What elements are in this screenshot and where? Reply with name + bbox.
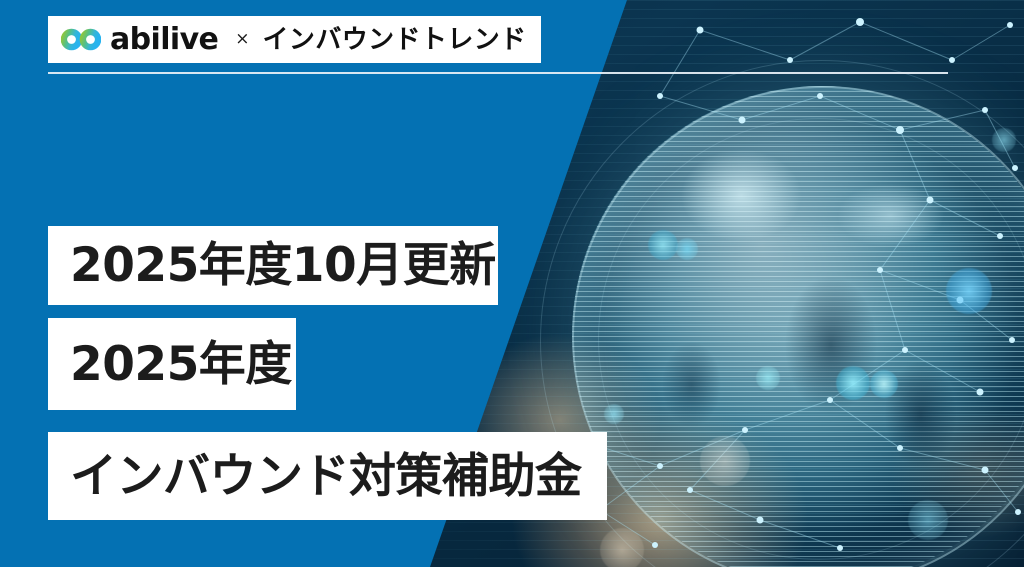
headline-box-3: インバウンド対策補助金 bbox=[48, 432, 607, 520]
bokeh-light bbox=[992, 128, 1016, 152]
headline-box-1: 2025年度10月更新 bbox=[48, 226, 498, 305]
headline-text-3: インバウンド対策補助金 bbox=[70, 453, 582, 500]
bokeh-light bbox=[604, 404, 624, 424]
headline-text-1: 2025年度10月更新 bbox=[70, 242, 496, 289]
bokeh-light bbox=[870, 370, 898, 398]
brand-logo-box: abilive × インバウンドトレンド bbox=[48, 16, 541, 63]
headline-text-2: 2025年度 bbox=[70, 341, 292, 388]
logo-wordmark: abilive bbox=[110, 25, 218, 55]
header-divider bbox=[48, 72, 948, 74]
bokeh-light bbox=[946, 268, 992, 314]
bokeh-light bbox=[676, 238, 698, 260]
bokeh-light bbox=[908, 500, 948, 540]
logo-separator: × bbox=[235, 31, 249, 48]
bokeh-light bbox=[700, 436, 750, 486]
bokeh-light bbox=[600, 528, 644, 567]
headline-box-2: 2025年度 bbox=[48, 318, 296, 410]
partner-name: インバウンドトレンド bbox=[263, 27, 527, 53]
infinity-logo-icon bbox=[61, 27, 101, 52]
bokeh-light bbox=[648, 230, 678, 260]
bokeh-light bbox=[836, 366, 870, 400]
promo-banner: abilive × インバウンドトレンド 2025年度10月更新 2025年度 … bbox=[0, 0, 1024, 567]
bokeh-light bbox=[756, 366, 780, 390]
